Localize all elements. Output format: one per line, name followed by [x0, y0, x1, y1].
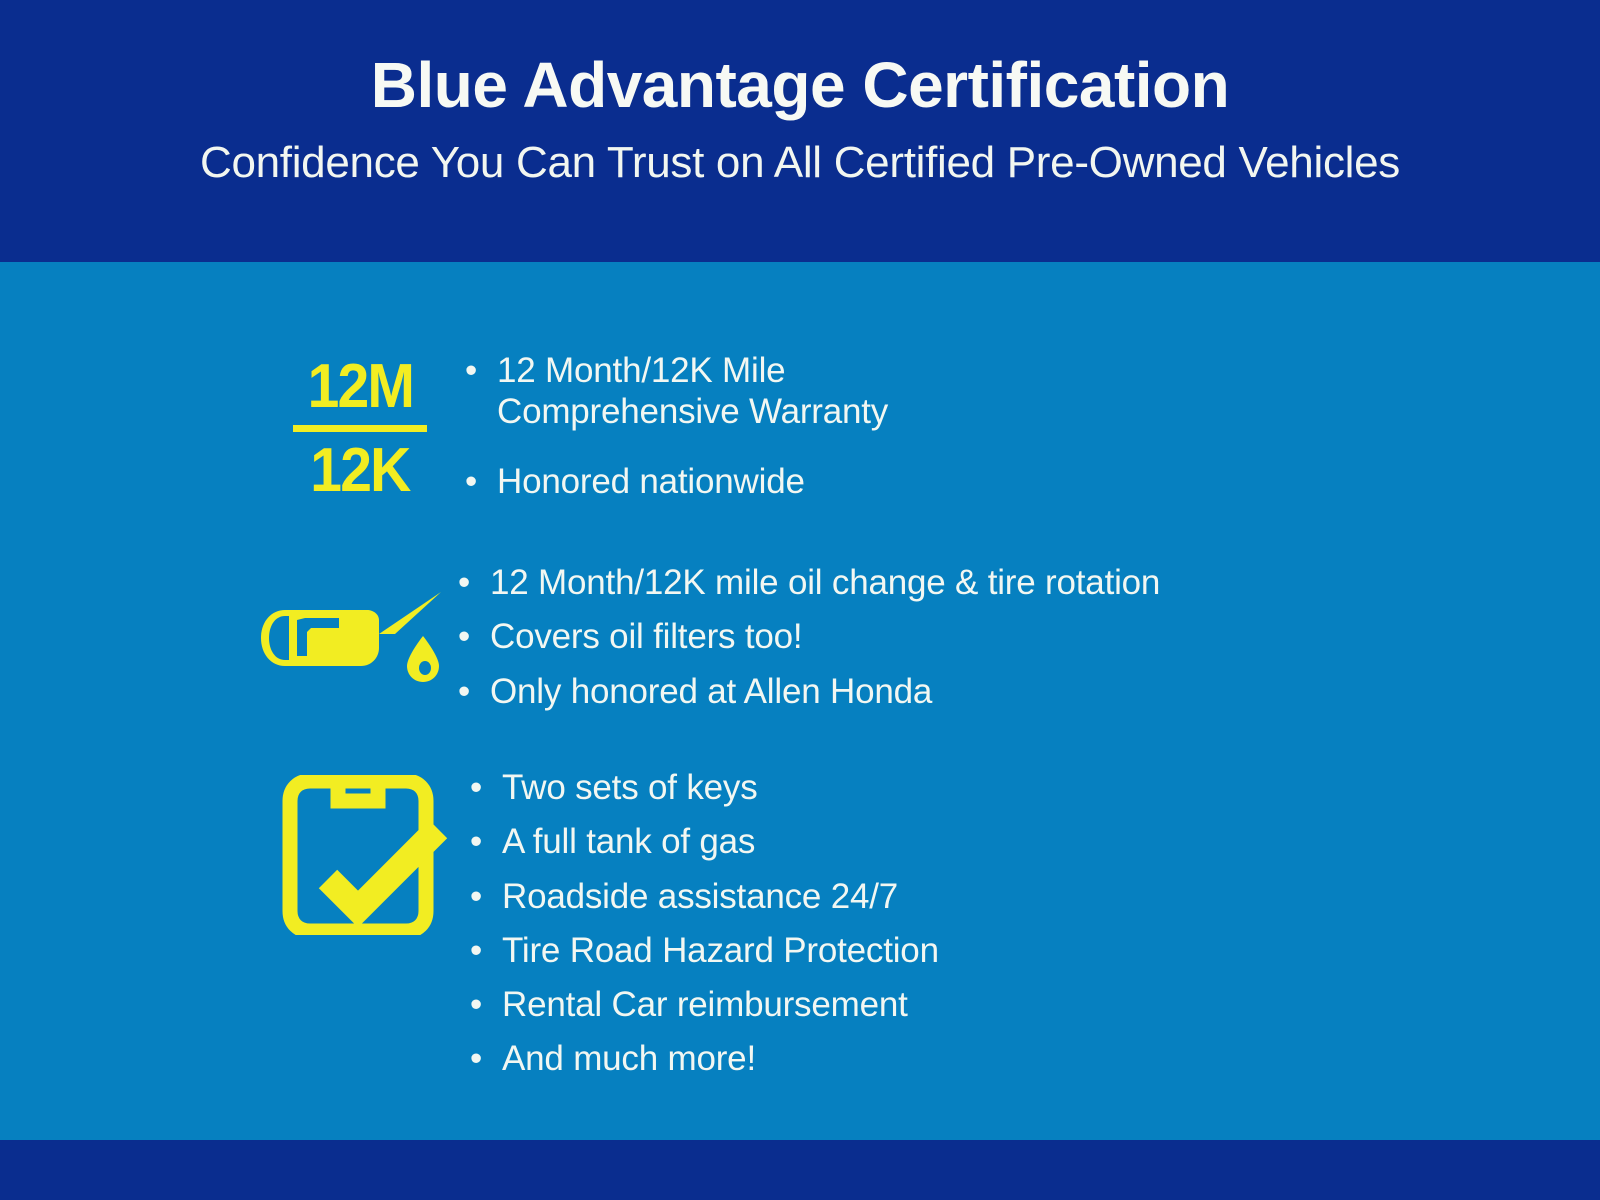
- feature-row-warranty: 12M 12K • 12 Month/12K Mile Comprehensiv…: [265, 350, 1565, 530]
- list-item: • Tire Road Hazard Protection: [470, 930, 1590, 971]
- list-item: • Only honored at Allen Honda: [458, 671, 1578, 712]
- list-item: • Rental Car reimbursement: [470, 984, 1590, 1025]
- feature-row-extras: • Two sets of keys • A full tank of gas …: [270, 767, 1590, 1093]
- bullet-text: Roadside assistance 24/7: [502, 876, 1590, 917]
- list-item: • Honored nationwide: [465, 461, 1565, 502]
- bullet-marker-icon: •: [458, 671, 490, 712]
- feature-icon-cell-warranty: 12M 12K: [265, 350, 455, 502]
- bullet-marker-icon: •: [470, 984, 502, 1025]
- bullet-text: Rental Car reimbursement: [502, 984, 1590, 1025]
- bullet-marker-icon: •: [470, 767, 502, 808]
- bullet-text: And much more!: [502, 1038, 1590, 1079]
- list-item: • Roadside assistance 24/7: [470, 876, 1590, 917]
- list-item: • 12 Month/12K Mile Comprehensive Warran…: [465, 350, 1565, 433]
- list-item: • 12 Month/12K mile oil change & tire ro…: [458, 562, 1578, 603]
- bullet-text: Two sets of keys: [502, 767, 1590, 808]
- poster-footer-bar: [0, 1140, 1600, 1200]
- feature-bullets-maintenance: • 12 Month/12K mile oil change & tire ro…: [448, 562, 1578, 725]
- bullet-marker-icon: •: [470, 1038, 502, 1079]
- list-item: • A full tank of gas: [470, 821, 1590, 862]
- bullet-marker-icon: •: [465, 461, 497, 502]
- feature-icon-cell-extras: [270, 767, 460, 940]
- feature-icon-cell-maintenance: [258, 562, 448, 691]
- fraction-denominator-label: 12K: [310, 440, 409, 502]
- bullet-marker-icon: •: [458, 616, 490, 657]
- fraction-numerator-label: 12M: [307, 356, 412, 418]
- bullet-text: 12 Month/12K Mile Comprehensive Warranty: [497, 350, 1565, 433]
- bullet-marker-icon: •: [470, 876, 502, 917]
- bullet-text: A full tank of gas: [502, 821, 1590, 862]
- features-area: 12M 12K • 12 Month/12K Mile Comprehensiv…: [0, 262, 1600, 1140]
- feature-bullets-extras: • Two sets of keys • A full tank of gas …: [460, 767, 1590, 1093]
- bullet-text: 12 Month/12K mile oil change & tire rota…: [490, 562, 1578, 603]
- bullet-marker-icon: •: [470, 821, 502, 862]
- poster-header: Blue Advantage Certification Confidence …: [0, 0, 1600, 262]
- blue-advantage-certification-poster: Blue Advantage Certification Confidence …: [0, 0, 1600, 1200]
- bullet-marker-icon: •: [465, 350, 497, 391]
- bullet-text: Only honored at Allen Honda: [490, 671, 1578, 712]
- twelve-month-twelve-k-fraction-icon: 12M 12K: [293, 356, 427, 502]
- bullet-marker-icon: •: [458, 562, 490, 603]
- bullet-text: Covers oil filters too!: [490, 616, 1578, 657]
- bullet-text: Honored nationwide: [497, 461, 1565, 502]
- feature-bullets-warranty: • 12 Month/12K Mile Comprehensive Warran…: [455, 350, 1565, 530]
- list-item: • And much more!: [470, 1038, 1590, 1079]
- page-subtitle: Confidence You Can Trust on All Certifie…: [200, 139, 1400, 187]
- oil-can-icon: [255, 576, 451, 691]
- fraction-bar: [293, 425, 427, 432]
- list-item: • Covers oil filters too!: [458, 616, 1578, 657]
- bullet-marker-icon: •: [470, 930, 502, 971]
- page-title: Blue Advantage Certification: [371, 52, 1229, 119]
- feature-row-maintenance: • 12 Month/12K mile oil change & tire ro…: [258, 562, 1578, 725]
- clipboard-check-icon: [280, 775, 450, 940]
- list-item: • Two sets of keys: [470, 767, 1590, 808]
- bullet-text: Tire Road Hazard Protection: [502, 930, 1590, 971]
